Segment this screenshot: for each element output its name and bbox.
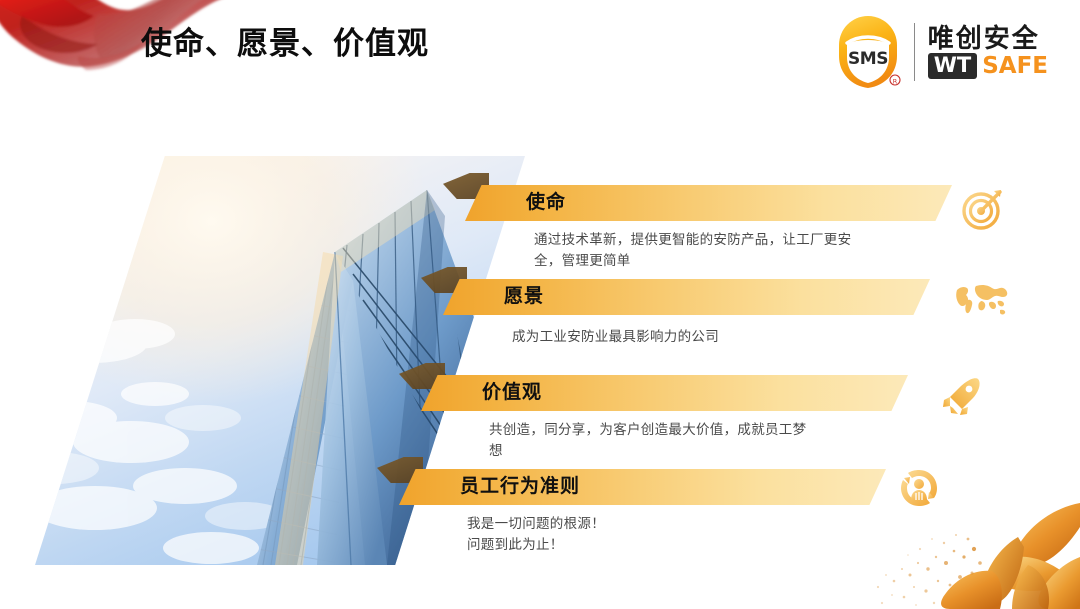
paragraph-values: 共创造，同分享，为客户创造最大价值，成就员工梦 想 xyxy=(489,419,889,461)
paragraph-vision: 成为工业安防业最具影响力的公司 xyxy=(512,326,912,347)
world-map-icon xyxy=(954,280,1010,316)
banner-values[interactable]: 价值观 xyxy=(421,375,908,411)
rocket-icon xyxy=(938,374,984,420)
banner-heading-vision: 愿景 xyxy=(504,279,544,315)
target-bullseye-icon xyxy=(960,186,1006,232)
slide-canvas: 使命、愿景、价值观 SMS xyxy=(0,0,1080,609)
banner-vision[interactable]: 愿景 xyxy=(443,279,930,315)
banner-mission[interactable]: 使命 xyxy=(465,185,952,221)
paragraph-mission: 通过技术革新，提供更智能的安防产品，让工厂更安 全，管理更简单 xyxy=(534,229,926,271)
content-banner-group: 使命 通过技术革新，提供更智能的安防产品，让工厂更安 全，管理更简单 愿景 成为… xyxy=(0,0,1080,609)
banner-code-of-conduct[interactable]: 员工行为准则 xyxy=(399,469,886,505)
banner-heading-mission: 使命 xyxy=(526,185,566,221)
teamwork-people-icon xyxy=(897,466,941,510)
banner-heading-values: 价值观 xyxy=(482,375,542,411)
banner-heading-code-of-conduct: 员工行为准则 xyxy=(460,469,580,505)
paragraph-code-of-conduct: 我是一切问题的根源！ 问题到此为止！ xyxy=(467,513,867,555)
